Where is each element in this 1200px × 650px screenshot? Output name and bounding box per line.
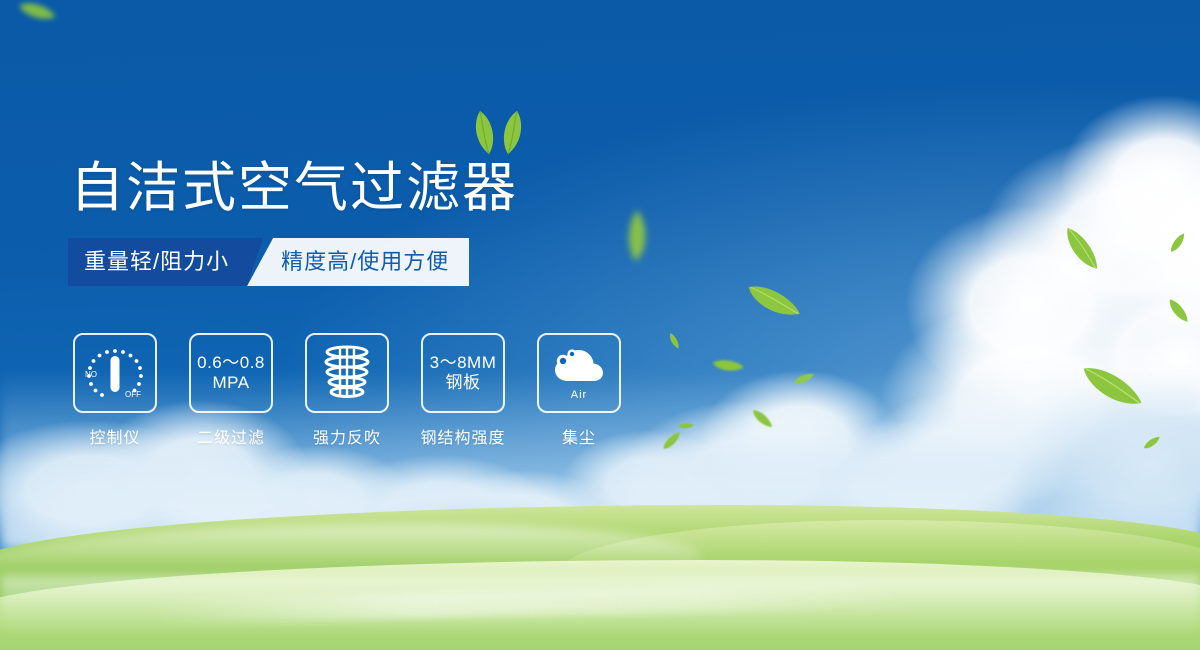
product-banner: 自洁式空气过滤器 重量轻/阻力小 精度高/使用方便 [0,0,1200,650]
subtitle-left: 重量轻/阻力小 [68,238,247,286]
feature-item-dust[interactable]: Air 集尘 [532,333,626,448]
feature-box: NO OFF [73,333,157,413]
page-title: 自洁式空气过滤器 [70,143,518,222]
feature-box-line1: Air [571,389,587,401]
feature-label: 钢结构强度 [416,424,510,448]
feature-label: 控制仪 [68,424,162,448]
feature-box-line1: 0.6～0.8 [197,353,265,373]
feature-label: 二级过滤 [184,424,278,448]
svg-text:NO: NO [85,370,97,379]
feature-item-pressure[interactable]: 0.6～0.8 MPA 二级过滤 [184,333,278,448]
feature-box: Air [537,333,621,413]
feature-box-line1: 3～8MM [430,353,497,373]
feature-item-controller[interactable]: NO OFF 控制仪 [68,333,162,448]
feature-item-steel[interactable]: 3～8MM 钢板 钢结构强度 [416,333,510,448]
svg-text:OFF: OFF [125,390,141,399]
feature-label: 集尘 [532,424,626,448]
feature-item-blowback[interactable]: 强力反吹 [300,333,394,448]
feature-box [305,333,389,413]
feature-box-line2: MPA [212,373,249,393]
gauge-dial-icon: NO OFF [83,343,147,403]
feature-list: NO OFF 控制仪 0.6～0.8 MPA 二级过滤 [68,333,626,448]
coil-spiral-icon [319,344,375,402]
feature-box: 3～8MM 钢板 [421,333,505,413]
dust-cloud-icon [548,345,610,387]
subtitle-right: 精度高/使用方便 [247,238,469,286]
feature-box-line2: 钢板 [446,373,481,393]
feature-label: 强力反吹 [300,424,394,448]
feature-box: 0.6～0.8 MPA [189,333,273,413]
subtitle-bar: 重量轻/阻力小 精度高/使用方便 [68,238,469,286]
